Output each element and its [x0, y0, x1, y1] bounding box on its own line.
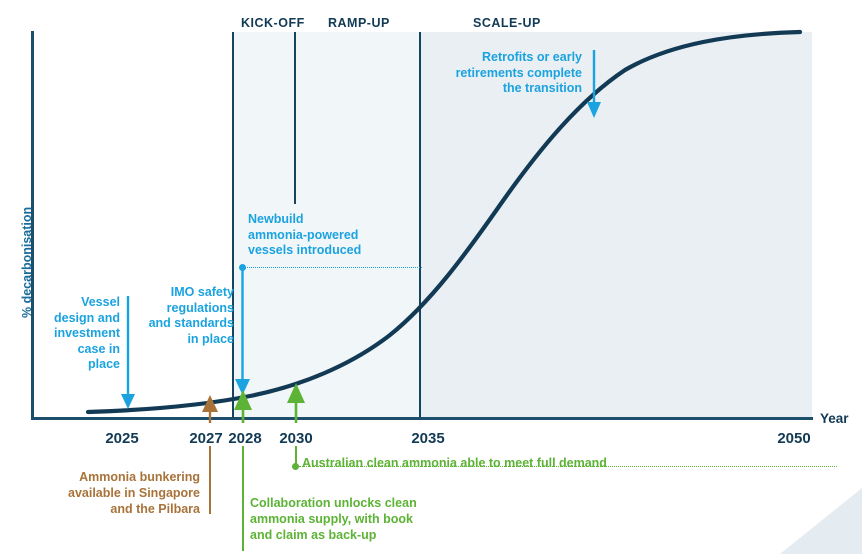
note-australian-supply-line1: Australian clean ammonia able to meet fu…: [302, 455, 607, 471]
note-australian-supply: Australian clean ammonia able to meet fu…: [302, 455, 607, 471]
australian-supply-dot: [292, 463, 299, 470]
chart-canvas: KICK-OFF RAMP-UP SCALE-UP % decarbonisat…: [0, 0, 862, 554]
australian-supply-arrow-head: [287, 383, 305, 403]
